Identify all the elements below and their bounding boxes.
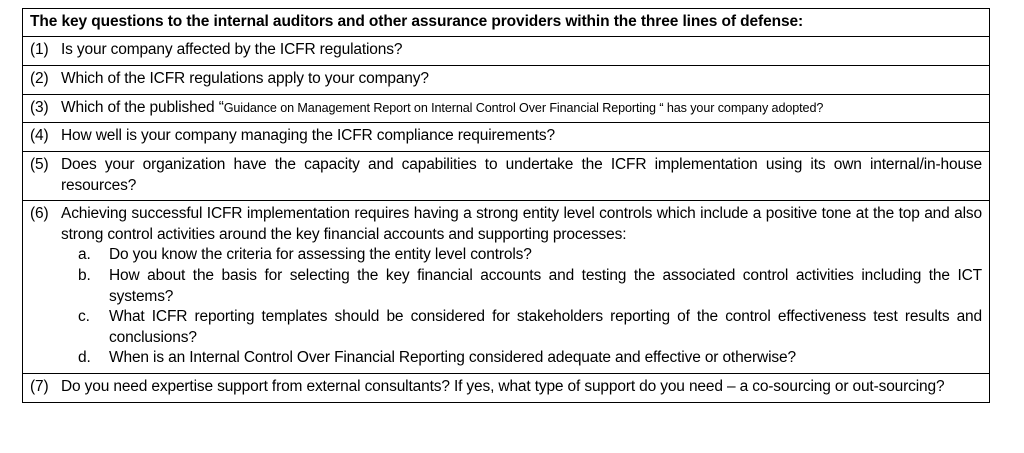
question-6-subitem-c: c.What ICFR reporting templates should b…: [30, 307, 982, 348]
question-2-text: Which of the ICFR regulations apply to y…: [61, 70, 429, 87]
subitem-c-text: What ICFR reporting templates should be …: [109, 308, 982, 346]
question-6-number: (6): [30, 204, 61, 225]
subitem-a-letter: a.: [78, 245, 109, 266]
question-4-number: (4): [30, 126, 61, 147]
question-4: (4)How well is your company managing the…: [30, 126, 982, 147]
question-7-number: (7): [30, 377, 61, 398]
question-6: (6)Achieving successful ICFR implementat…: [30, 204, 982, 245]
question-3: (3)Which of the published “Guidance on M…: [30, 98, 982, 119]
subitem-c-letter: c.: [78, 307, 109, 328]
table-row: (2)Which of the ICFR regulations apply t…: [23, 66, 989, 95]
document-page: The key questions to the internal audito…: [0, 0, 1024, 453]
question-6-subitem-a: a.Do you know the criteria for assessing…: [30, 245, 982, 266]
question-6-subitem-d: d.When is an Internal Control Over Finan…: [30, 348, 982, 369]
question-3-text-lead: Which of the published: [61, 99, 219, 116]
question-5: (5)Does your organization have the capac…: [30, 155, 982, 196]
question-1: (1)Is your company affected by the ICFR …: [30, 40, 982, 61]
question-6-subitem-b: b.How about the basis for selecting the …: [30, 266, 982, 307]
question-6-subitems: a.Do you know the criteria for assessing…: [30, 245, 982, 369]
question-6-text: Achieving successful ICFR implementation…: [61, 205, 982, 243]
table-row: (1)Is your company affected by the ICFR …: [23, 37, 989, 66]
key-questions-table: The key questions to the internal audito…: [22, 8, 990, 403]
question-5-text: Does your organization have the capacity…: [61, 156, 982, 194]
table-header-row: The key questions to the internal audito…: [23, 9, 989, 37]
question-3-number: (3): [30, 98, 61, 119]
question-2: (2)Which of the ICFR regulations apply t…: [30, 69, 982, 90]
subitem-d-text: When is an Internal Control Over Financi…: [109, 349, 796, 366]
table-row: (6)Achieving successful ICFR implementat…: [23, 201, 989, 374]
question-1-text: Is your company affected by the ICFR reg…: [61, 41, 402, 58]
table-row: (7)Do you need expertise support from ex…: [23, 374, 989, 402]
question-4-text: How well is your company managing the IC…: [61, 127, 555, 144]
question-5-number: (5): [30, 155, 61, 176]
table-row: (4)How well is your company managing the…: [23, 123, 989, 152]
table-row: (3)Which of the published “Guidance on M…: [23, 95, 989, 124]
table-row: (5)Does your organization have the capac…: [23, 152, 989, 201]
question-3-quoted-guidance-title: Guidance on Management Report on Interna…: [224, 101, 660, 115]
subitem-b-text: How about the basis for selecting the ke…: [109, 267, 982, 305]
subitem-d-letter: d.: [78, 348, 109, 369]
question-2-number: (2): [30, 69, 61, 90]
question-3-text-tail: has your company adopted?: [663, 101, 823, 115]
question-7-text: Do you need expertise support from exter…: [61, 378, 944, 395]
question-7: (7)Do you need expertise support from ex…: [30, 377, 982, 398]
subitem-a-text: Do you know the criteria for assessing t…: [109, 246, 532, 263]
question-1-number: (1): [30, 40, 61, 61]
subitem-b-letter: b.: [78, 266, 109, 287]
